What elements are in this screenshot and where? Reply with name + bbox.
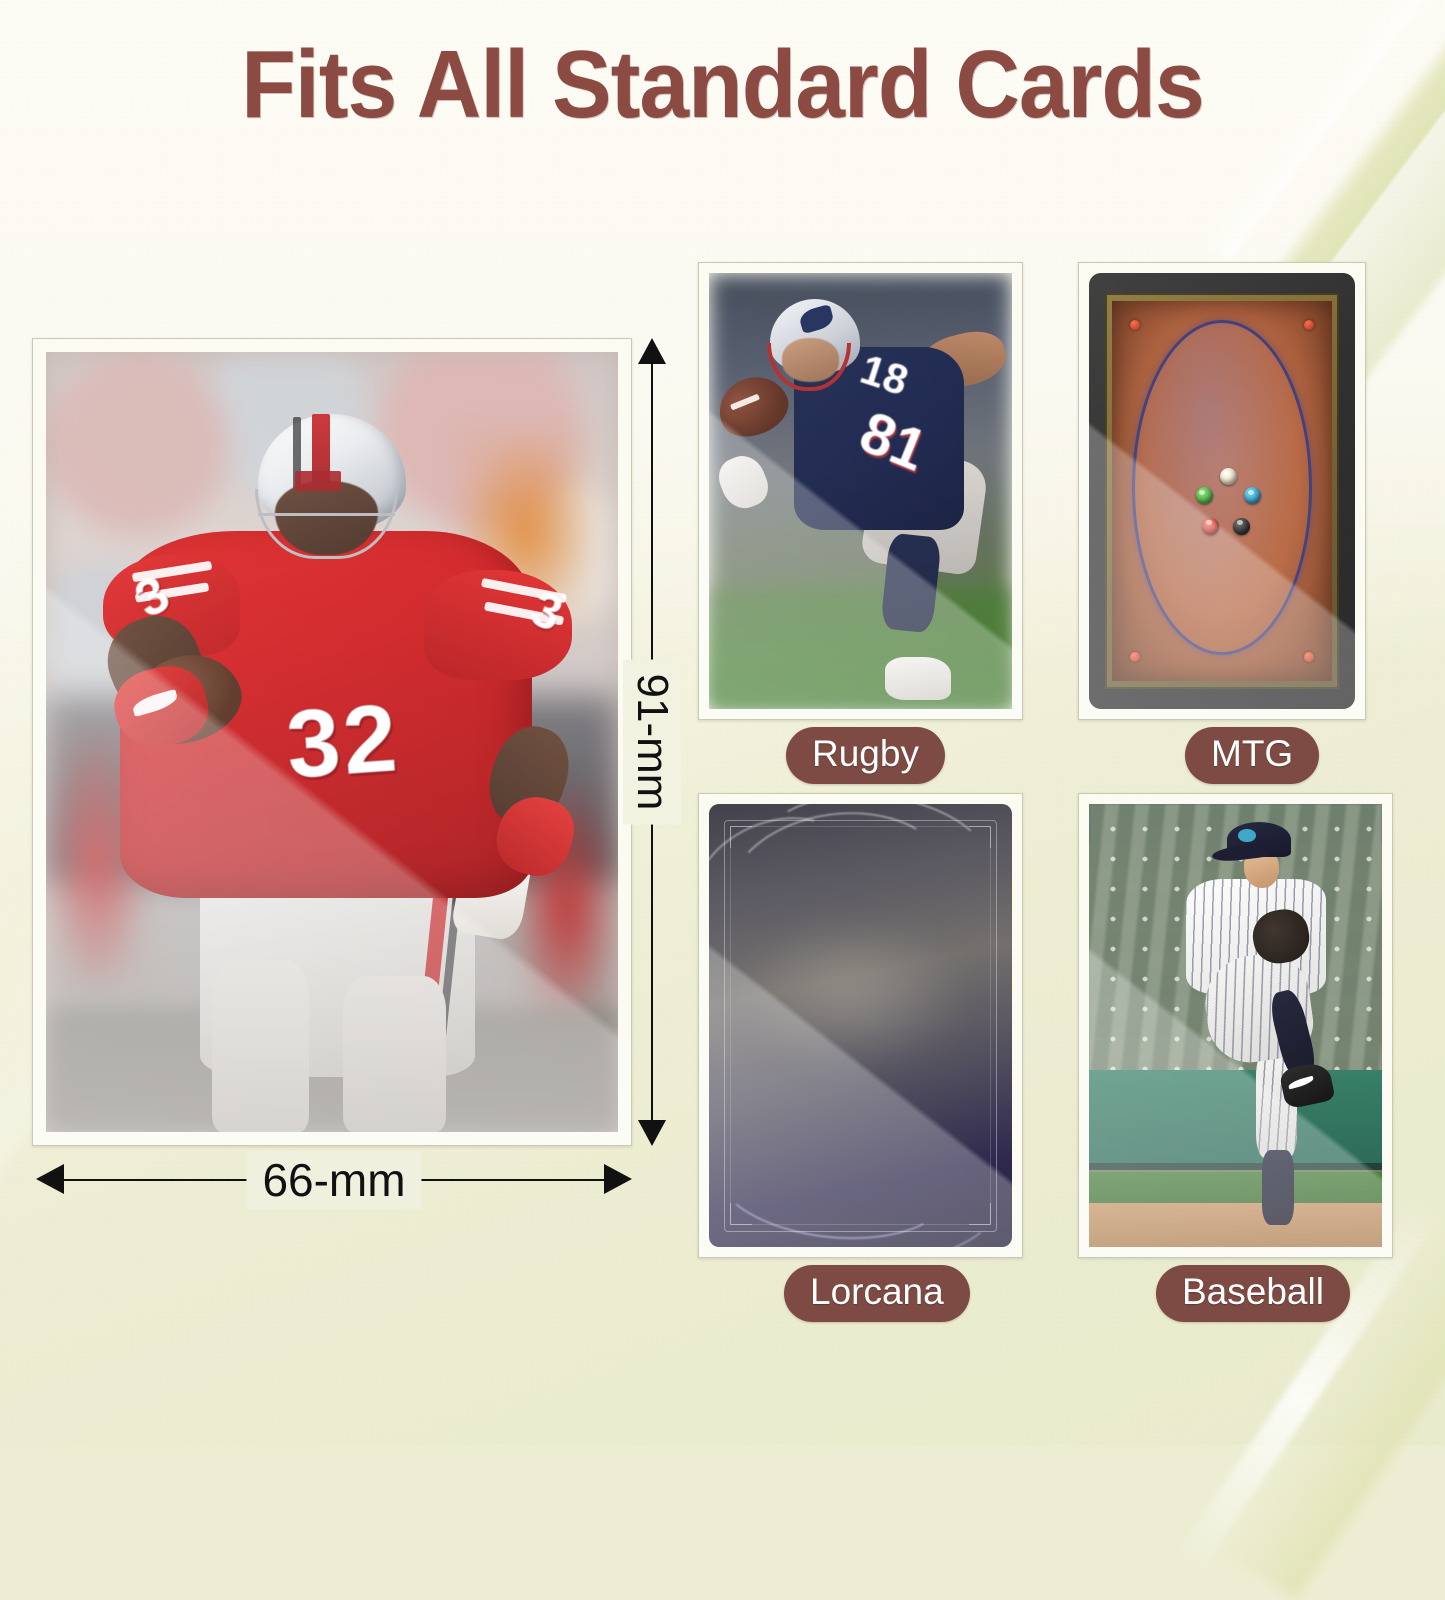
arrow-head-right-icon [604,1164,632,1194]
card-label-rugby: Rugby [786,727,945,784]
lorcana-card-face [709,804,1012,1247]
rugby-player-shoe [885,657,952,701]
infield-dirt [1089,1203,1382,1247]
cap-team-logo [1238,829,1256,842]
lorcana-corner-ornament-top-left [730,826,752,848]
rugby-card-photo: 18 81 [709,273,1012,709]
lorcana-card-body [709,804,1012,1247]
player-leg-right [343,976,446,1132]
card-label-mtg: MTG [1185,727,1319,784]
card-sleeve-football-main[interactable]: 3 3 32 [32,338,632,1146]
mtg-corner-dot-bottom-right [1304,652,1314,662]
dimension-width-label: 66-mm [246,1151,421,1209]
baseball-card-photo [1089,804,1382,1247]
card-sleeve-baseball[interactable] [1078,793,1393,1258]
outfield-wall-trim [1089,1163,1382,1170]
card-label-baseball: Baseball [1156,1265,1350,1322]
mana-symbol-red-icon [1202,518,1219,535]
field-grass [709,587,1012,709]
lorcana-corner-ornament-top-right [969,826,991,848]
mana-symbol-white-icon [1220,468,1237,485]
mtg-corner-dot-bottom-left [1130,652,1140,662]
mtg-corner-dot-top-left [1130,320,1140,330]
mana-symbol-black-icon [1233,518,1250,535]
mtg-corner-dot-top-right [1304,320,1314,330]
football-card-photo: 3 3 32 [46,352,618,1132]
card-sleeve-rugby[interactable]: 18 81 [698,262,1023,720]
arrow-head-down-icon [638,1120,666,1146]
mtg-card-black-border [1089,273,1355,709]
helmet-conference-logo [295,471,341,491]
lorcana-border-inner [730,826,991,1225]
mana-symbol-green-icon [1196,487,1213,504]
outfield-wall [1089,1070,1382,1167]
player-leg-left [212,960,309,1132]
dimension-height-arrow: 91-mm [634,338,670,1146]
card-label-lorcana: Lorcana [784,1265,970,1322]
card-sleeve-lorcana[interactable] [698,793,1023,1258]
card-sleeve-mtg[interactable] [1078,262,1366,720]
infield-grass [1089,1172,1382,1203]
pitcher-sock-plant [1262,1150,1294,1225]
mtg-card-face [1089,273,1355,709]
lorcana-corner-ornament-bottom-right [969,1203,991,1225]
helmet-facemask-bar [258,513,395,516]
mtg-card-oval [1132,320,1312,655]
mtg-card-inner-art [1112,301,1332,682]
jersey-number: 32 [220,679,467,805]
page-title: Fits All Standard Cards [51,30,1395,140]
dimension-width-arrow: 66-mm [36,1160,632,1200]
lorcana-corner-ornament-bottom-left [730,1203,752,1225]
mtg-card-gold-frame [1105,293,1339,690]
dimension-height-label: 91-mm [623,660,681,825]
rugby-player-sock [880,532,941,633]
